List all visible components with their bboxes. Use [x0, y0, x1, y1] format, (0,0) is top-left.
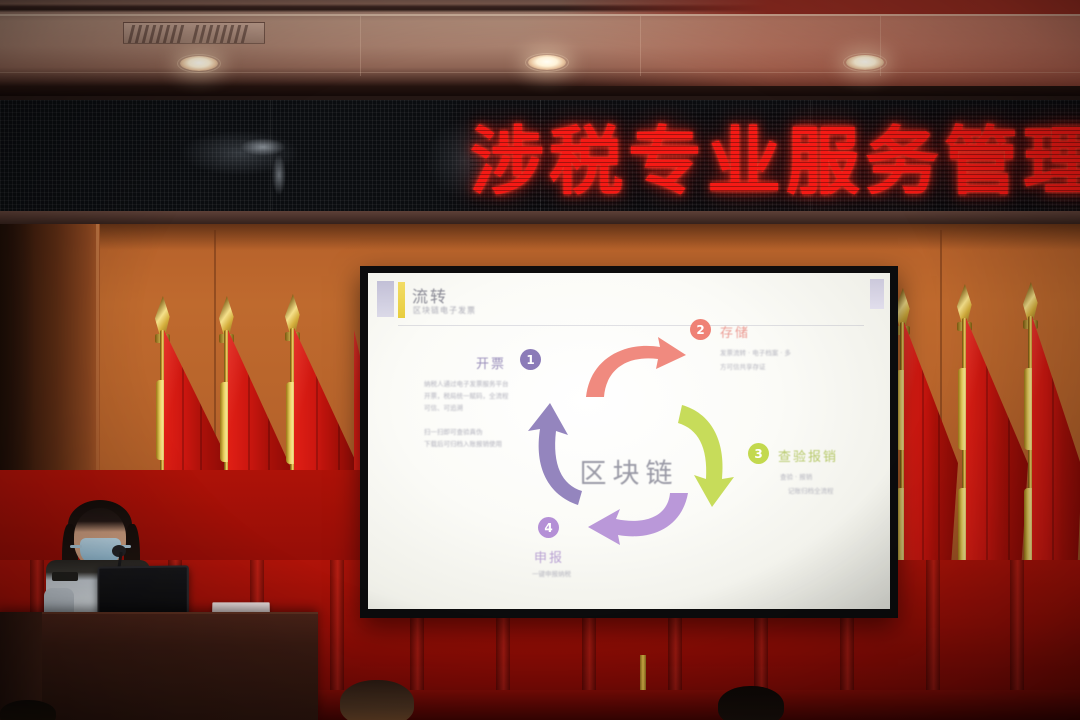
downlight: [180, 56, 218, 71]
node-invoice-body: 下载后可归档入账报销使用: [424, 439, 502, 451]
node-declare-number: 4: [538, 517, 559, 538]
node-declare-label: 申报: [534, 547, 564, 566]
slide-decor-right-tab: [870, 279, 884, 309]
banner-frame-bottom: [0, 211, 1080, 224]
audience-head: [0, 700, 56, 720]
audience-head: [718, 686, 784, 720]
led-banner: 涉税专业服务管理培训: [0, 96, 1080, 224]
ceiling-red-tint: [520, 12, 1080, 86]
projection-screen-frame: 流转 区块链电子发票 区块链 开票: [360, 266, 898, 618]
ceiling: [0, 0, 1080, 96]
node-verify-desc: 查验 · 报销: [780, 472, 812, 483]
projection-screen-surface: 流转 区块链电子发票 区块链 开票: [368, 273, 890, 609]
ceiling-seam: [640, 16, 641, 76]
ceiling-seam: [0, 14, 1080, 16]
node-verify-number: 3: [748, 443, 769, 464]
node-store: 2 存储 发票流转 · 电子档案 · 多 方可信共享存证: [690, 319, 860, 393]
led-banner-text: 涉税专业服务管理培训: [470, 114, 1080, 210]
led-reflection: [240, 138, 286, 156]
hvac-vent: [123, 22, 265, 44]
slide-decor-left-tab: [377, 281, 394, 317]
node-invoice: 开票 1 纳税人通过电子发票服务平台 开票，税局统一赋码，全流程 可信、可追溯 …: [424, 349, 604, 479]
downlight: [846, 55, 884, 70]
node-store-desc2: 方可信共享存证: [720, 362, 766, 373]
node-store-label: 存储: [720, 322, 750, 341]
ceiling-red-strip: [560, 0, 1080, 14]
conference-room-photo: 涉税专业服务管理培训: [0, 0, 1080, 720]
led-reflection: [272, 155, 286, 195]
node-invoice-number: 1: [520, 349, 541, 370]
node-invoice-label: 开票: [476, 353, 506, 372]
node-verify: 3 查验报销 查验 · 报销 记账归档全流程: [748, 443, 890, 517]
node-declare: 4 申报 一键申报纳税: [516, 517, 646, 583]
wall-top-shadow: [0, 224, 1080, 250]
slide-accent-bar: [398, 282, 405, 318]
node-invoice-body: 可信、可追溯: [424, 403, 463, 415]
node-verify-label: 查验报销: [778, 446, 838, 465]
node-invoice-body: 纳税人通过电子发票服务平台: [424, 379, 509, 391]
mask-strap: [70, 545, 82, 548]
ceiling-seam: [0, 72, 1080, 73]
downlight: [528, 55, 566, 70]
node-store-desc: 发票流转 · 电子档案 · 多: [720, 348, 791, 359]
node-verify-desc2: 记账归档全流程: [788, 486, 834, 497]
node-invoice-body: 开票，税局统一赋码，全流程: [424, 391, 509, 403]
slide-subtitle: 区块链电子发票: [413, 305, 476, 316]
presenter-shoulder-board: [52, 572, 78, 581]
ceiling-seam: [360, 16, 361, 76]
slide-title: 流转: [412, 283, 448, 307]
audience-head: [340, 680, 414, 720]
node-store-number: 2: [690, 319, 711, 340]
node-invoice-body: 扫一扫即可查验真伪: [424, 427, 483, 439]
node-declare-desc: 一键申报纳税: [532, 569, 571, 580]
